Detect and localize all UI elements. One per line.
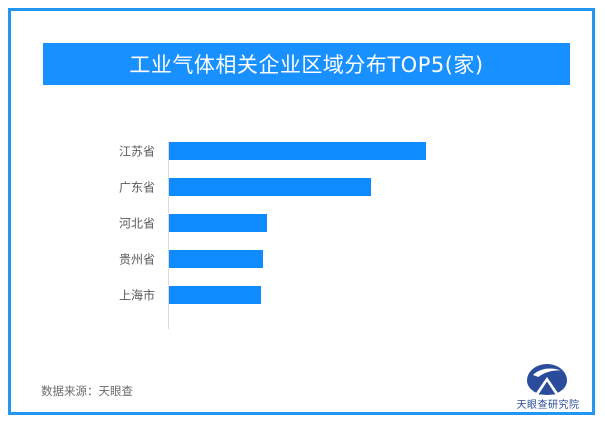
bar-fill[interactable] [169,250,263,268]
bar-category-label: 江苏省 [49,143,169,160]
chart-title-banner: 工业气体相关企业区域分布TOP5(家) [43,43,570,85]
bar-row: 河北省 [11,214,592,232]
bar-fill[interactable] [169,178,371,196]
brand-logo: 天眼查研究院 [509,363,587,413]
bar-category-label: 贵州省 [49,251,169,268]
bar-row: 上海市 [11,286,592,304]
bar-row: 广东省 [11,178,592,196]
bar-row: 贵州省 [11,250,592,268]
bar-category-label: 广东省 [49,179,169,196]
page-title: 工业气体相关企业区域分布TOP5(家) [129,49,483,79]
bar-chart-plot-area: 江苏省 广东省 河北省 贵州省 上海市 [11,134,592,329]
bar-row: 江苏省 [11,142,592,160]
bar-fill[interactable] [169,214,267,232]
bar-category-label: 河北省 [49,215,169,232]
bar-fill[interactable] [169,142,426,160]
tianyancha-logo-icon [523,363,571,396]
brand-name-label: 天眼查研究院 [509,396,587,411]
chart-card: 工业气体相关企业区域分布TOP5(家) 江苏省 广东省 河北省 贵州省 [8,8,595,415]
data-source-note: 数据来源：天眼查 [41,383,133,399]
bar-fill[interactable] [169,286,261,304]
bar-category-label: 上海市 [49,287,169,304]
